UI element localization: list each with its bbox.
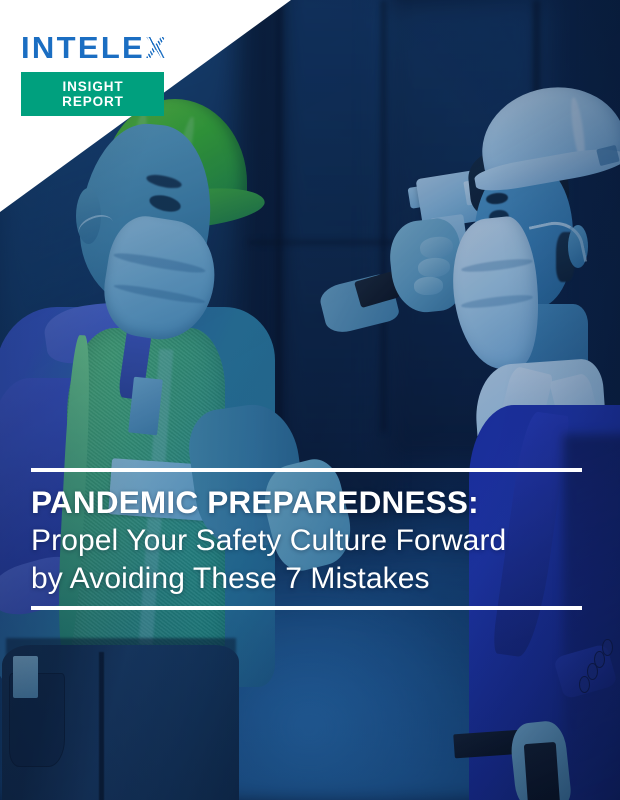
page-subtitle: Propel Your Safety Culture Forward by Av… <box>31 522 582 596</box>
logo-wordmark: INTELE <box>21 32 145 63</box>
title-block: PANDEMIC PREPAREDNESS: Propel Your Safet… <box>31 468 582 610</box>
title-rule-bottom <box>31 606 582 610</box>
title-rule-top <box>31 468 582 472</box>
page-subtitle-line-2: by Avoiding These 7 Mistakes <box>31 560 582 597</box>
brand-block: INTELE X INSIGHT REPORT <box>21 32 169 116</box>
page-title: PANDEMIC PREPAREDNESS: <box>31 486 582 519</box>
report-cover: INTELE X INSIGHT REPORT PANDEMIC PREPARE… <box>0 0 620 800</box>
insight-report-badge: INSIGHT REPORT <box>21 72 164 116</box>
logo-x-mark: X <box>146 32 169 63</box>
intelex-logo: INTELE X <box>21 32 169 63</box>
page-subtitle-line-1: Propel Your Safety Culture Forward <box>31 522 582 559</box>
